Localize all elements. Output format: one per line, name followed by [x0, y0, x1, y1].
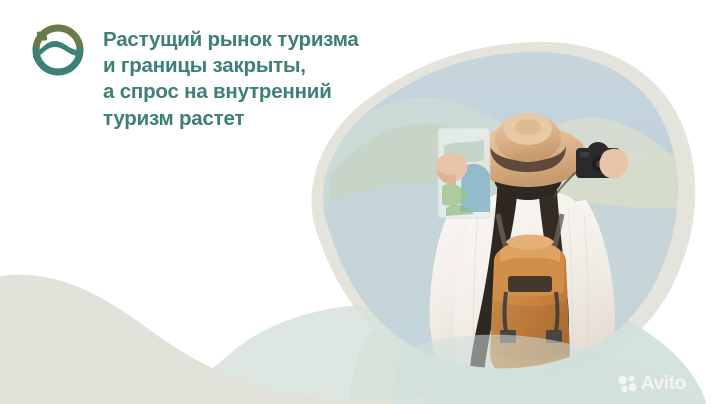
avito-dots-icon [618, 374, 637, 393]
brand-logo [28, 22, 88, 80]
avito-wordmark: Avito [641, 374, 686, 393]
avito-watermark: Avito [618, 374, 686, 393]
promo-banner: Растущий рынок туризма и границы закрыты… [0, 0, 720, 404]
page-title: Растущий рынок туризма и границы закрыты… [103, 27, 403, 132]
